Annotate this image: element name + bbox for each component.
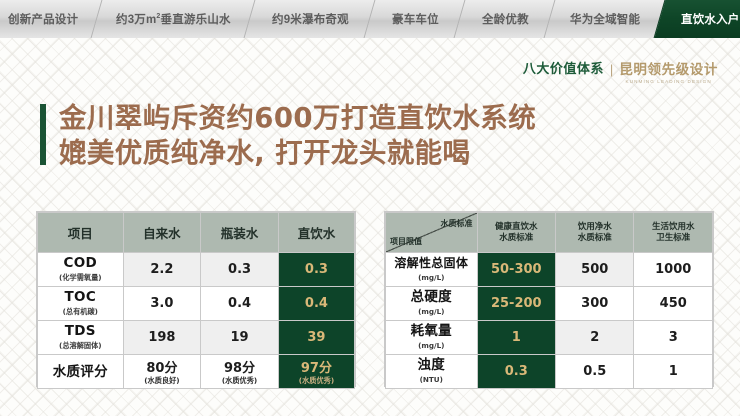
right-table-body: 溶解性总固体 (mg/L) 50-300 500 1000 总硬度 (mg/L)… xyxy=(386,253,713,389)
table-header-row: 项目 自来水 瓶装水 直饮水 xyxy=(38,213,355,253)
nav-tab-label-1: 约3万m2垂直游乐山水 xyxy=(116,11,231,27)
brand-right-group: 昆明领先级设计 KUNMING LEADING DESIGN xyxy=(619,62,718,84)
cell-oxygen-domestic: 3 xyxy=(634,321,713,355)
cell-tds-solids-domestic: 1000 xyxy=(634,253,713,287)
nav-tab-label-6: 直饮水入户 xyxy=(681,11,740,27)
left-table-body: COD (化学需氧量) 2.2 0.3 0.3 TOC (总有机碳) 3.0 0… xyxy=(38,253,355,389)
right-header-purified-l2: 水质标准 xyxy=(578,233,612,243)
row-label-turbidity: 浊度 (NTU) xyxy=(386,355,478,389)
row-label-tds-solids-unit: (mg/L) xyxy=(388,271,475,284)
cell-turbidity-domestic: 1 xyxy=(634,355,713,389)
right-header-corner: 水质标准 项目限值 xyxy=(386,213,478,253)
cell-oxygen-healthy: 1 xyxy=(477,321,555,355)
row-label-tds-solids-main: 溶解性总固体 xyxy=(394,256,468,270)
cell-tds-solids-healthy: 50-300 xyxy=(477,253,555,287)
row-label-oxygen: 耗氧量 (mg/L) xyxy=(386,321,478,355)
cell-tds-solids-purified: 500 xyxy=(556,253,634,287)
cell-toc-direct: 0.4 xyxy=(278,287,354,321)
nav-tab-6[interactable]: 直饮水入户 xyxy=(652,0,740,38)
nav-tab-4[interactable]: 全龄优教 xyxy=(452,0,558,38)
nav-tab-3[interactable]: 豪车车位 xyxy=(362,0,468,38)
brand-value-system: 八大价值体系 | 昆明领先级设计 KUNMING LEADING DESIGN xyxy=(523,62,718,84)
water-standards-table-grid: 水质标准 项目限值 健康直饮水 水质标准 饮用净水 水质标准 生活饮用水 卫生标… xyxy=(385,212,713,389)
nav-tab-label-3: 豪车车位 xyxy=(392,11,439,27)
brand-divider: | xyxy=(610,62,613,78)
row-label-toc-main: TOC xyxy=(65,289,97,305)
row-label-oxygen-unit: (mg/L) xyxy=(388,339,475,352)
row-label-cod: COD (化学需氧量) xyxy=(38,253,124,287)
right-header-healthy-l1: 健康直饮水 xyxy=(495,222,538,232)
right-header-healthy: 健康直饮水 水质标准 xyxy=(477,213,555,253)
table-row: 浊度 (NTU) 0.3 0.5 1 xyxy=(386,355,713,389)
table-row: TOC (总有机碳) 3.0 0.4 0.4 xyxy=(38,287,355,321)
row-label-tds-sub: (总溶解固体) xyxy=(40,339,121,352)
right-header-purified-l1: 饮用净水 xyxy=(578,222,612,232)
headline-text-group: 金川翠屿斥资约600万打造直饮水系统 媲美优质纯净水, 打开龙头就能喝 xyxy=(59,102,536,170)
right-header-domestic-l2: 卫生标准 xyxy=(656,233,690,243)
cell-toc-tap: 3.0 xyxy=(123,287,201,321)
corner-label-limit: 项目限值 xyxy=(390,236,422,247)
cell-tds-direct: 39 xyxy=(278,321,354,355)
cell-tds-bottled: 19 xyxy=(201,321,279,355)
row-label-tds-main: TDS xyxy=(65,323,96,339)
nav-tab-2[interactable]: 约9米瀑布奇观 xyxy=(242,0,378,38)
row-label-oxygen-main: 耗氧量 xyxy=(411,323,452,339)
nav-tab-label-2: 约9米瀑布奇观 xyxy=(272,11,349,27)
left-header-direct: 直饮水 xyxy=(278,213,354,253)
water-comparison-table: 项目 自来水 瓶装水 直饮水 COD (化学需氧量) 2.2 0.3 0.3 xyxy=(36,211,356,387)
cell-oxygen-purified: 2 xyxy=(556,321,634,355)
cell-toc-bottled: 0.4 xyxy=(201,287,279,321)
row-label-toc: TOC (总有机碳) xyxy=(38,287,124,321)
cell-score-bottled-value: 98分 xyxy=(224,361,255,376)
top-navigation-bar: 创新产品设计 约3万m2垂直游乐山水 约9米瀑布奇观 豪车车位 全龄优教 华为全… xyxy=(0,0,740,38)
table-row: 水质评分 80分 (水质良好) 98分 (水质优秀) 97分 (水质优秀) xyxy=(38,355,355,389)
table-row: COD (化学需氧量) 2.2 0.3 0.3 xyxy=(38,253,355,287)
cell-hardness-domestic: 450 xyxy=(634,287,713,321)
table-row: 总硬度 (mg/L) 25-200 300 450 xyxy=(386,287,713,321)
nav-tab-label-5: 华为全域智能 xyxy=(570,11,640,27)
headline: 金川翠屿斥资约600万打造直饮水系统 媲美优质纯净水, 打开龙头就能喝 xyxy=(40,102,536,170)
cell-tds-tap: 198 xyxy=(123,321,201,355)
row-label-hardness-main: 总硬度 xyxy=(411,289,452,305)
cell-score-tap-sub: (水质良好) xyxy=(126,376,199,386)
cell-cod-bottled: 0.3 xyxy=(201,253,279,287)
right-header-healthy-l2: 水质标准 xyxy=(499,233,533,243)
right-header-purified: 饮用净水 水质标准 xyxy=(556,213,634,253)
row-label-tds-solids: 溶解性总固体 (mg/L) xyxy=(386,253,478,287)
nav-tab-1[interactable]: 约3万m2垂直游乐山水 xyxy=(89,0,258,38)
headline-line-1: 金川翠屿斥资约600万打造直饮水系统 xyxy=(59,102,536,135)
row-label-tds: TDS (总溶解固体) xyxy=(38,321,124,355)
cell-hardness-purified: 300 xyxy=(556,287,634,321)
nav-tab-label-4: 全龄优教 xyxy=(482,11,529,27)
nav-tab-5[interactable]: 华为全域智能 xyxy=(542,0,668,38)
row-label-score-main: 水质评分 xyxy=(53,364,108,380)
row-label-hardness: 总硬度 (mg/L) xyxy=(386,287,478,321)
brand-cn-label: 八大价值体系 xyxy=(523,62,604,78)
headline-line-2: 媲美优质纯净水, 打开龙头就能喝 xyxy=(59,137,536,170)
table-header-row: 水质标准 项目限值 健康直饮水 水质标准 饮用净水 水质标准 生活饮用水 卫生标… xyxy=(386,213,713,253)
nav-tab-label-0: 创新产品设计 xyxy=(8,11,78,27)
water-comparison-table-grid: 项目 自来水 瓶装水 直饮水 COD (化学需氧量) 2.2 0.3 0.3 xyxy=(37,212,355,389)
cell-cod-tap: 2.2 xyxy=(123,253,201,287)
nav-tab-0[interactable]: 创新产品设计 xyxy=(0,0,105,38)
cell-turbidity-purified: 0.5 xyxy=(556,355,634,389)
cell-score-tap-value: 80分 xyxy=(146,361,177,376)
cell-score-bottled: 98分 (水质优秀) xyxy=(201,355,279,389)
cell-score-direct-value: 97分 xyxy=(301,361,332,376)
table-row: 耗氧量 (mg/L) 1 2 3 xyxy=(386,321,713,355)
cell-turbidity-healthy: 0.3 xyxy=(477,355,555,389)
left-table-head: 项目 自来水 瓶装水 直饮水 xyxy=(38,213,355,253)
brand-gold-label: 昆明领先级设计 xyxy=(619,62,718,78)
right-table-head: 水质标准 项目限值 健康直饮水 水质标准 饮用净水 水质标准 生活饮用水 卫生标… xyxy=(386,213,713,253)
right-header-domestic-l1: 生活饮用水 xyxy=(652,222,695,232)
corner-label-standard: 水质标准 xyxy=(441,218,473,229)
row-label-toc-sub: (总有机碳) xyxy=(40,305,121,318)
water-standards-table: 水质标准 项目限值 健康直饮水 水质标准 饮用净水 水质标准 生活饮用水 卫生标… xyxy=(384,211,714,387)
row-label-turbidity-unit: (NTU) xyxy=(388,373,475,386)
slide-background: 创新产品设计 约3万m2垂直游乐山水 约9米瀑布奇观 豪车车位 全龄优教 华为全… xyxy=(0,0,740,416)
row-label-turbidity-main: 浊度 xyxy=(417,357,445,373)
brand-en-label: KUNMING LEADING DESIGN xyxy=(626,79,712,84)
right-header-domestic: 生活饮用水 卫生标准 xyxy=(634,213,713,253)
cell-score-direct: 97分 (水质优秀) xyxy=(278,355,354,389)
cell-score-bottled-sub: (水质优秀) xyxy=(203,376,276,386)
headline-accent-bar xyxy=(40,104,46,165)
table-row: 溶解性总固体 (mg/L) 50-300 500 1000 xyxy=(386,253,713,287)
left-header-item: 项目 xyxy=(38,213,124,253)
table-row: TDS (总溶解固体) 198 19 39 xyxy=(38,321,355,355)
left-header-bottled: 瓶装水 xyxy=(201,213,279,253)
row-label-cod-main: COD xyxy=(64,255,98,271)
cell-score-direct-sub: (水质优秀) xyxy=(281,376,352,386)
cell-cod-direct: 0.3 xyxy=(278,253,354,287)
cell-score-tap: 80分 (水质良好) xyxy=(123,355,201,389)
row-label-hardness-unit: (mg/L) xyxy=(388,305,475,318)
left-header-tap: 自来水 xyxy=(123,213,201,253)
row-label-cod-sub: (化学需氧量) xyxy=(40,271,121,284)
cell-hardness-healthy: 25-200 xyxy=(477,287,555,321)
row-label-score: 水质评分 xyxy=(38,355,124,389)
